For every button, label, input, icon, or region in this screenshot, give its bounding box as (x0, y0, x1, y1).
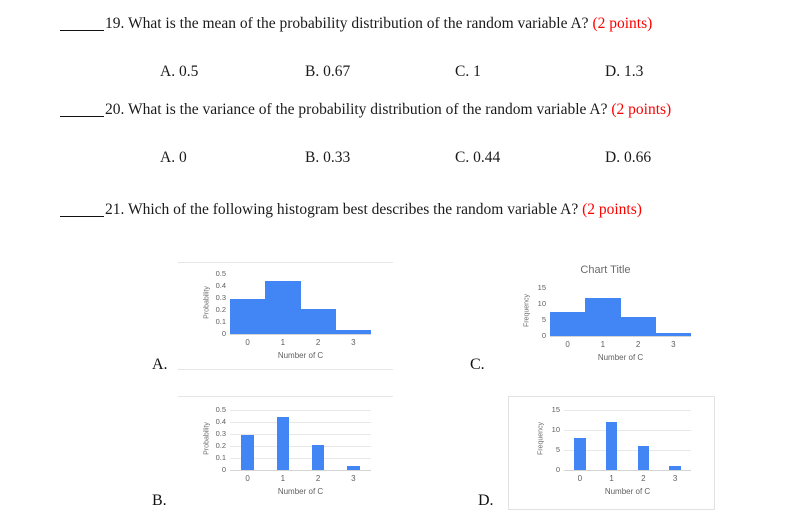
chart-c-x-tick: 0 (550, 340, 585, 349)
chart-c-x-tick: 1 (585, 340, 620, 349)
option-20-b[interactable]: B. 0.33 (305, 148, 350, 168)
chart-d-bar (606, 422, 617, 470)
question-19-line: 19. What is the mean of the probability … (60, 14, 760, 34)
chart-d-x-axis-line (564, 470, 691, 471)
choice-letter-b: B. (152, 492, 167, 510)
question-20-points: (2 points) (611, 101, 671, 118)
chart-c-bar (550, 312, 585, 336)
chart-d-y-tick: 0 (538, 465, 560, 474)
question-20-number: 20. (105, 101, 124, 118)
chart-a-x-tick: 0 (230, 338, 265, 347)
chart-c-bar (621, 317, 656, 336)
chart-d-bar (574, 438, 585, 470)
question-20-line: 20. What is the variance of the probabil… (60, 100, 760, 120)
chart-b-y-tick: 0.5 (204, 405, 226, 414)
chart-b-y-axis-label: Probability (204, 416, 211, 462)
choice-letter-d: D. (478, 492, 494, 510)
chart-d-bar (669, 466, 680, 470)
option-19-a[interactable]: A. 0.5 (160, 62, 198, 82)
question-21-line: 21. Which of the following histogram bes… (60, 200, 760, 220)
choice-letter-a: A. (152, 356, 168, 374)
chart-a-plot: 00.10.20.30.40.5Probability0123Number of… (178, 262, 393, 372)
chart-c-title: Chart Title (498, 264, 713, 276)
chart-d-y-tick: 15 (538, 405, 560, 414)
chart-a-y-tick: 0 (204, 329, 226, 338)
question-19-text: What is the mean of the probability dist… (128, 15, 589, 32)
chart-d-gridline (564, 410, 691, 411)
chart-option-b[interactable]: 00.10.20.30.40.5Probability0123Number of… (178, 396, 393, 508)
chart-option-a[interactable]: 00.10.20.30.40.5Probability0123Number of… (178, 262, 393, 372)
chart-d-x-axis-label: Number of C (564, 487, 691, 496)
chart-c-x-tick: 2 (621, 340, 656, 349)
chart-b-x-tick: 2 (301, 474, 336, 483)
chart-a-x-axis-line (230, 334, 371, 335)
chart-b-bar (312, 445, 325, 470)
question-20-options: A. 0 B. 0.33 C. 0.44 D. 0.66 (60, 148, 760, 168)
chart-b-x-tick: 0 (230, 474, 265, 483)
option-19-b[interactable]: B. 0.67 (305, 62, 350, 82)
chart-c-x-axis-line (550, 336, 691, 337)
question-21-number: 21. (105, 201, 124, 218)
chart-c-plot: Chart Title051015Frequency0123Number of … (498, 262, 713, 372)
option-20-a[interactable]: A. 0 (160, 148, 187, 168)
chart-d-plot: 051015Frequency0123Number of C (508, 396, 713, 508)
chart-option-d[interactable]: 051015Frequency0123Number of C (508, 396, 713, 508)
chart-d-y-axis-label: Frequency (538, 416, 545, 462)
chart-a-y-axis-label: Probability (204, 280, 211, 326)
chart-b-x-tick: 3 (336, 474, 371, 483)
chart-a-x-axis-label: Number of C (230, 351, 371, 360)
chart-d-x-tick: 3 (659, 474, 691, 483)
chart-b-plot: 00.10.20.30.40.5Probability0123Number of… (178, 396, 393, 508)
chart-a-bar (336, 330, 371, 334)
question-21-points: (2 points) (582, 201, 642, 218)
chart-c-bar (656, 333, 691, 336)
question-21-block: 21. Which of the following histogram bes… (60, 200, 760, 220)
chart-c-y-axis-label: Frequency (524, 288, 531, 334)
chart-b-x-axis-line (230, 470, 371, 471)
chart-d-x-tick: 1 (596, 474, 628, 483)
chart-d-x-tick: 2 (628, 474, 660, 483)
chart-a-bar (301, 309, 336, 334)
chart-b-y-tick: 0 (204, 465, 226, 474)
chart-a-x-tick: 2 (301, 338, 336, 347)
chart-b-gridline (230, 422, 371, 423)
option-20-c[interactable]: C. 0.44 (455, 148, 500, 168)
chart-a-y-tick: 0.5 (204, 269, 226, 278)
question-19-options: A. 0.5 B. 0.67 C. 1 D. 1.3 (60, 62, 760, 82)
option-19-d[interactable]: D. 1.3 (605, 62, 643, 82)
choice-letter-c: C. (470, 356, 485, 374)
chart-c-x-tick: 3 (656, 340, 691, 349)
answer-blank-19[interactable] (60, 30, 104, 31)
chart-d-gridline (564, 430, 691, 431)
chart-b-bar (241, 435, 254, 470)
worksheet-page: 19. What is the mean of the probability … (0, 0, 792, 532)
chart-a-bar (230, 299, 265, 334)
question-20-text: What is the variance of the probability … (128, 101, 608, 118)
chart-b-x-tick: 1 (265, 474, 300, 483)
option-19-c[interactable]: C. 1 (455, 62, 481, 82)
question-21-text: Which of the following histogram best de… (128, 201, 578, 218)
chart-a-bar (265, 281, 300, 334)
chart-b-bar (347, 466, 360, 470)
chart-b-x-axis-label: Number of C (230, 487, 371, 496)
question-19-number: 19. (105, 15, 124, 32)
chart-option-c[interactable]: Chart Title051015Frequency0123Number of … (498, 262, 713, 372)
question-19-block: 19. What is the mean of the probability … (60, 14, 760, 34)
answer-blank-20[interactable] (60, 116, 104, 117)
chart-a-x-tick: 1 (265, 338, 300, 347)
chart-c-x-axis-label: Number of C (550, 353, 691, 362)
chart-b-gridline (230, 410, 371, 411)
option-20-d[interactable]: D. 0.66 (605, 148, 651, 168)
chart-c-bar (585, 298, 620, 336)
chart-a-x-tick: 3 (336, 338, 371, 347)
question-19-points: (2 points) (592, 15, 652, 32)
chart-b-bar (277, 417, 290, 470)
answer-blank-21[interactable] (60, 216, 104, 217)
question-20-block: 20. What is the variance of the probabil… (60, 100, 760, 120)
chart-d-x-tick: 0 (564, 474, 596, 483)
chart-d-bar (638, 446, 649, 470)
